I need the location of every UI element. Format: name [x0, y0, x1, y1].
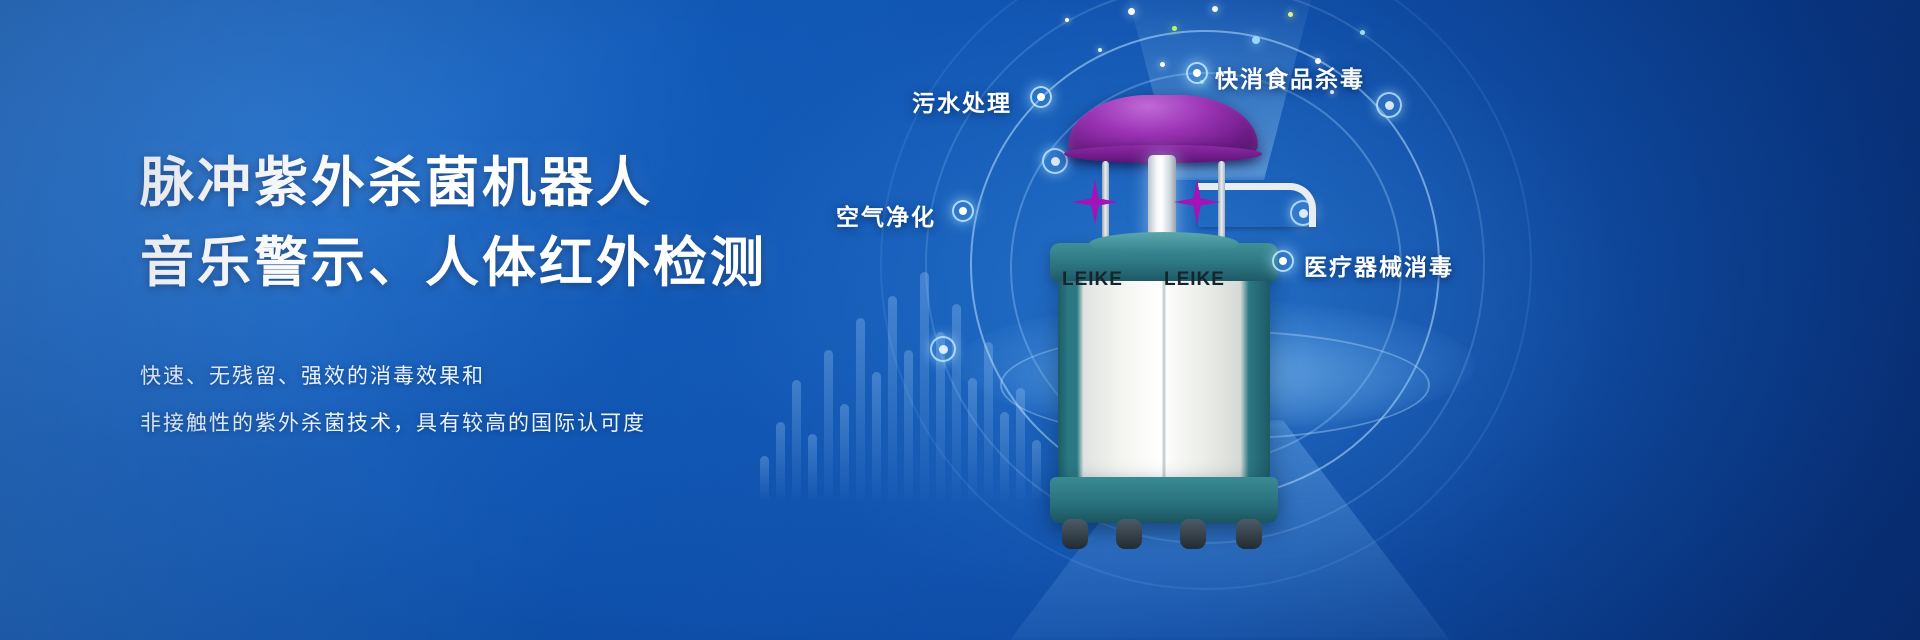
sparkle-particle [1172, 26, 1177, 31]
brand-label-left: LEIKE [1062, 269, 1123, 291]
callout-label-air-purification: 空气净化 [836, 198, 936, 232]
callout-dot-air-purification [952, 200, 974, 222]
callout-label-sewage-treatment: 污水处理 [912, 84, 1012, 118]
brand-label-right: LEIKE [1164, 269, 1225, 291]
sparkle-particle [1065, 18, 1069, 22]
robot-caster-wheel [1062, 519, 1088, 549]
headline-line-1: 脉冲紫外杀菌机器人 [140, 150, 900, 216]
robot-handle [1198, 183, 1316, 227]
sparkle-particle [1360, 30, 1365, 35]
callout-label-medical-device-sterilization: 医疗器械消毒 [1304, 248, 1454, 282]
robot-caster-wheel [1236, 519, 1262, 549]
subtitle-line-2: 非接触性的紫外杀菌技术，具有较高的国际认可度 [140, 411, 900, 436]
sparkle-particle [1098, 48, 1102, 52]
sparkle-particle [1252, 36, 1260, 44]
robot-base [1050, 477, 1278, 523]
callout-dot-medical-device-sterilization [1272, 250, 1294, 272]
callout-label-food-disinfection: 快消食品杀毒 [1215, 60, 1365, 94]
robot-caster-wheel [1180, 519, 1206, 549]
banner-copy: 脉冲紫外杀菌机器人 音乐警示、人体红外检测 快速、无残留、强效的消毒效果和 非接… [140, 150, 900, 436]
uv-lamp-tube [1148, 155, 1176, 243]
halo-node [930, 336, 956, 362]
uv-disinfection-robot: LEIKE LEIKE [1040, 95, 1310, 495]
sparkle-particle [1160, 62, 1165, 67]
panel-seam [1163, 281, 1166, 481]
sparkle-particle [1212, 6, 1218, 12]
sparkle-particle [1128, 8, 1135, 15]
hero-illustration: LEIKE LEIKE [860, 0, 1920, 640]
callout-dot-sewage-treatment [1030, 86, 1052, 108]
robot-caster-wheel [1116, 519, 1142, 549]
sparkle-particle [1288, 12, 1293, 17]
uv-lamp-rod-right [1218, 161, 1225, 239]
halo-node [1376, 92, 1402, 118]
robot-body-panel [1058, 281, 1270, 481]
sparkle-logo-icon [1072, 179, 1118, 225]
product-banner: 脉冲紫外杀菌机器人 音乐警示、人体红外检测 快速、无残留、强效的消毒效果和 非接… [0, 0, 1920, 640]
subtitle-line-1: 快速、无残留、强效的消毒效果和 [140, 364, 900, 389]
headline-line-2: 音乐警示、人体红外检测 [140, 230, 900, 296]
callout-dot-food-disinfection [1186, 62, 1208, 84]
